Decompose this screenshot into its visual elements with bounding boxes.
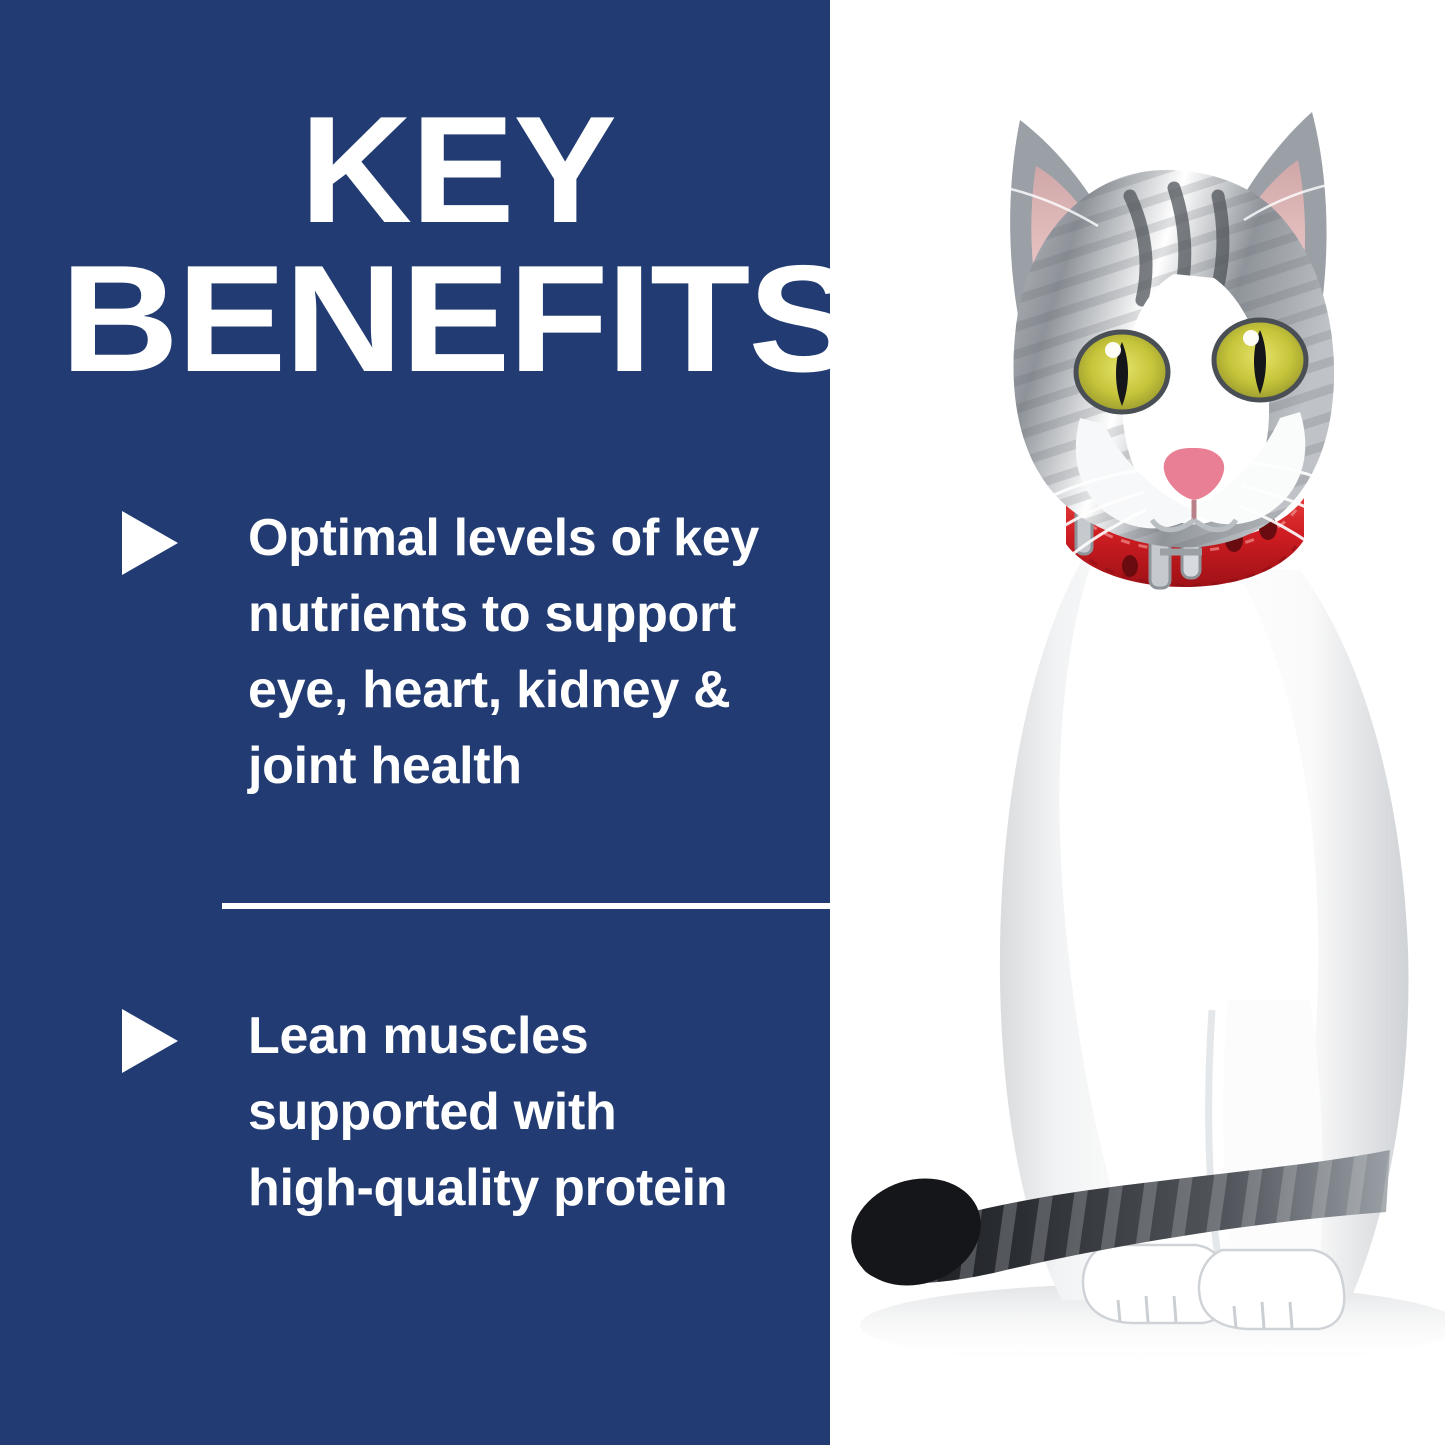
benefit-item-1: Optimal levels of key nutrients to suppo… xyxy=(118,500,878,804)
key-benefits-banner: KEY BENEFITS Optimal levels of key nutri… xyxy=(0,0,1445,1445)
page-title-line-1: KEY xyxy=(0,96,925,245)
benefit-item-2: Lean muscles supported with high-quality… xyxy=(118,998,878,1226)
page-title: KEY BENEFITS xyxy=(0,96,925,394)
section-divider xyxy=(222,903,840,909)
play-triangle-icon xyxy=(118,508,182,578)
benefit-item-2-text: Lean muscles supported with high-quality… xyxy=(248,998,878,1226)
page-title-line-2: BENEFITS xyxy=(0,245,953,394)
benefit-item-1-text: Optimal levels of key nutrients to suppo… xyxy=(248,500,878,804)
play-triangle-icon xyxy=(118,1006,182,1076)
cat-photo xyxy=(830,0,1445,1445)
